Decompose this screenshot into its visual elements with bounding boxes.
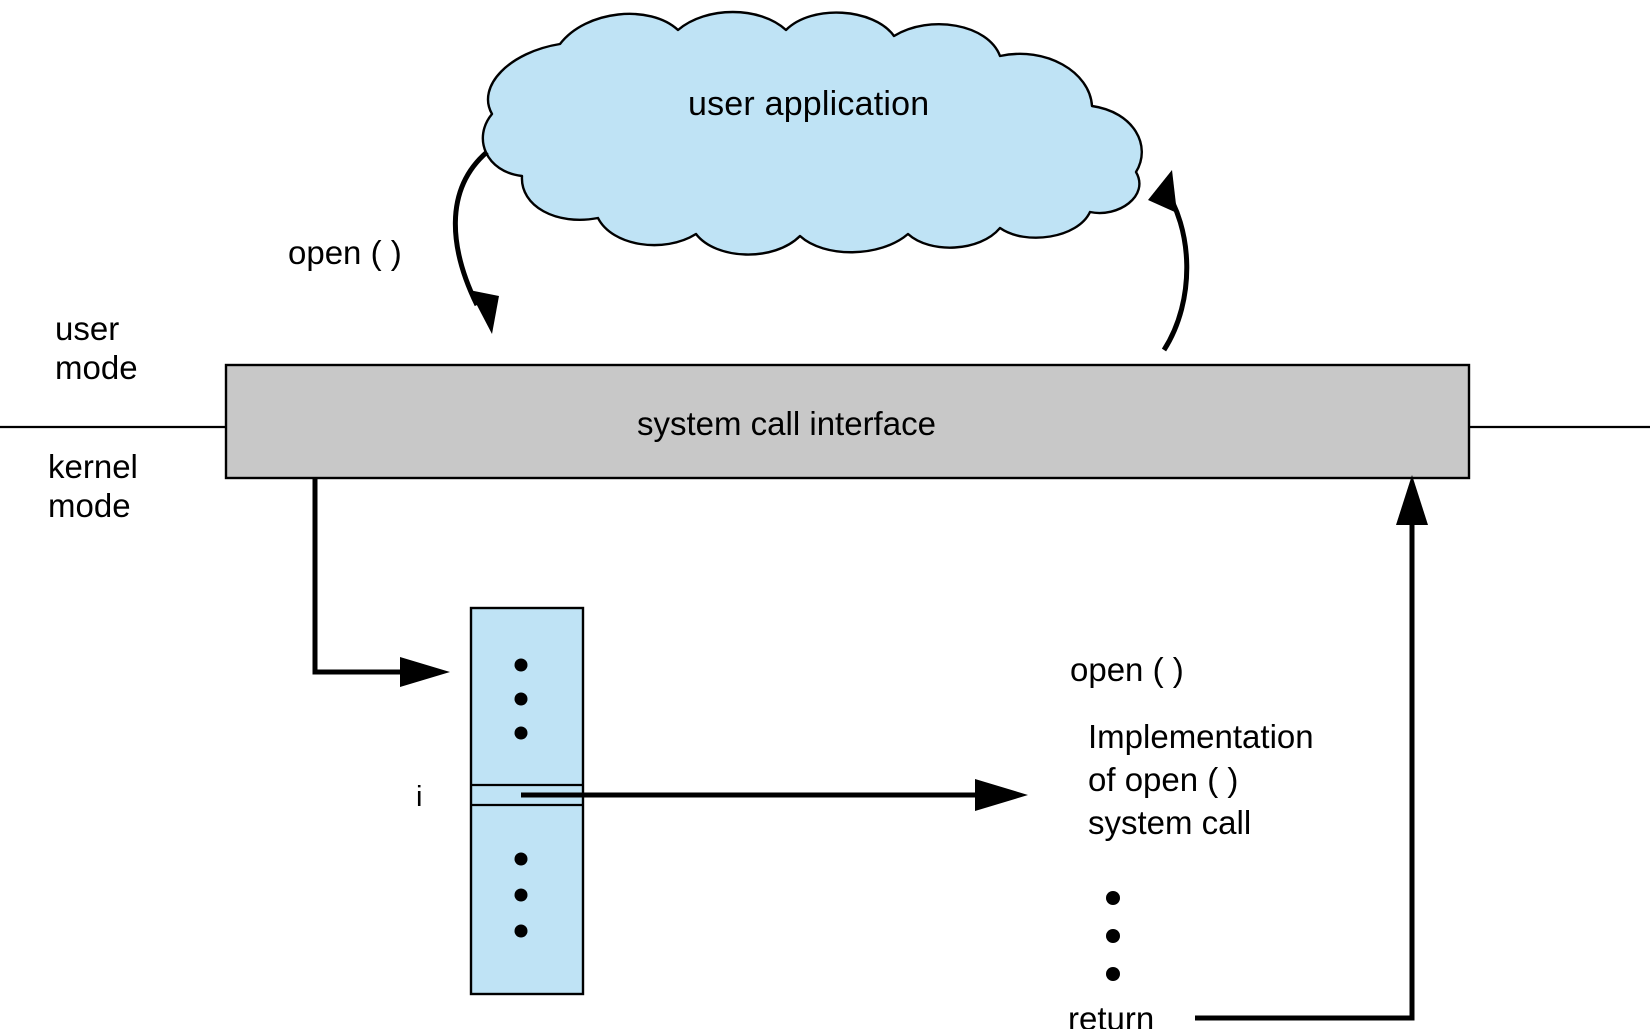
table-entry-to-implementation-arrow [521, 779, 1028, 811]
kernel-mode-label: kernel mode [48, 448, 138, 526]
open-call-label: open ( ) [288, 234, 402, 273]
open-call-arrow [455, 152, 499, 334]
dispatch-to-table-arrow [315, 478, 450, 687]
cloud-label: user application [688, 84, 929, 124]
user-mode-label: user mode [55, 310, 138, 388]
implementation-line-3: system call [1088, 802, 1251, 845]
implementation-dots [1106, 891, 1120, 981]
system-call-interface-label: system call interface [637, 405, 936, 444]
user-application-cloud [483, 12, 1142, 255]
diagram-vector-layer [0, 0, 1650, 1029]
return-to-application-arrow [1148, 170, 1187, 350]
implementation-line-1: Implementation [1088, 716, 1314, 759]
diagram-canvas: user application open ( ) user mode kern… [0, 0, 1650, 1029]
table-index-label: i [416, 780, 422, 814]
return-label: return [1068, 1000, 1154, 1029]
implementation-line-2: of open ( ) [1088, 759, 1238, 802]
implementation-open-label: open ( ) [1070, 651, 1184, 690]
